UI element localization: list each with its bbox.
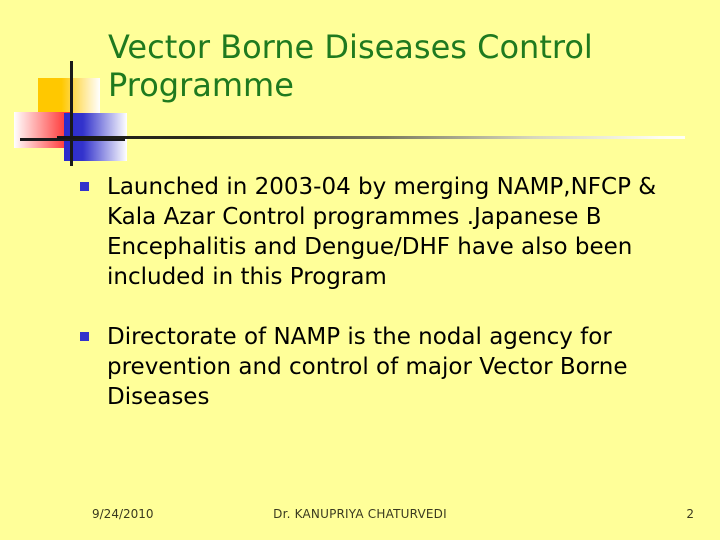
square-bullet-icon bbox=[80, 182, 89, 191]
slide-canvas: Vector Borne Diseases Control Programme … bbox=[0, 0, 720, 540]
footer-author: Dr. KANUPRIYA CHATURVEDI bbox=[0, 507, 720, 521]
slide-footer: 9/24/2010 Dr. KANUPRIYA CHATURVEDI 2 bbox=[0, 505, 720, 529]
bullet-text: Directorate of NAMP is the nodal agency … bbox=[107, 322, 680, 412]
square-bullet-icon bbox=[80, 332, 89, 341]
list-item: Launched in 2003-04 by merging NAMP,NFCP… bbox=[80, 172, 680, 292]
slide-title: Vector Borne Diseases Control Programme bbox=[108, 28, 688, 104]
list-item: Directorate of NAMP is the nodal agency … bbox=[80, 322, 680, 412]
decoration-vertical-rule bbox=[70, 61, 73, 166]
bullet-text: Launched in 2003-04 by merging NAMP,NFCP… bbox=[107, 172, 680, 292]
footer-page-number: 2 bbox=[686, 507, 694, 521]
bullet-list: Launched in 2003-04 by merging NAMP,NFCP… bbox=[80, 172, 680, 442]
title-divider-rule bbox=[57, 136, 685, 139]
red-gradient-square bbox=[14, 112, 70, 148]
